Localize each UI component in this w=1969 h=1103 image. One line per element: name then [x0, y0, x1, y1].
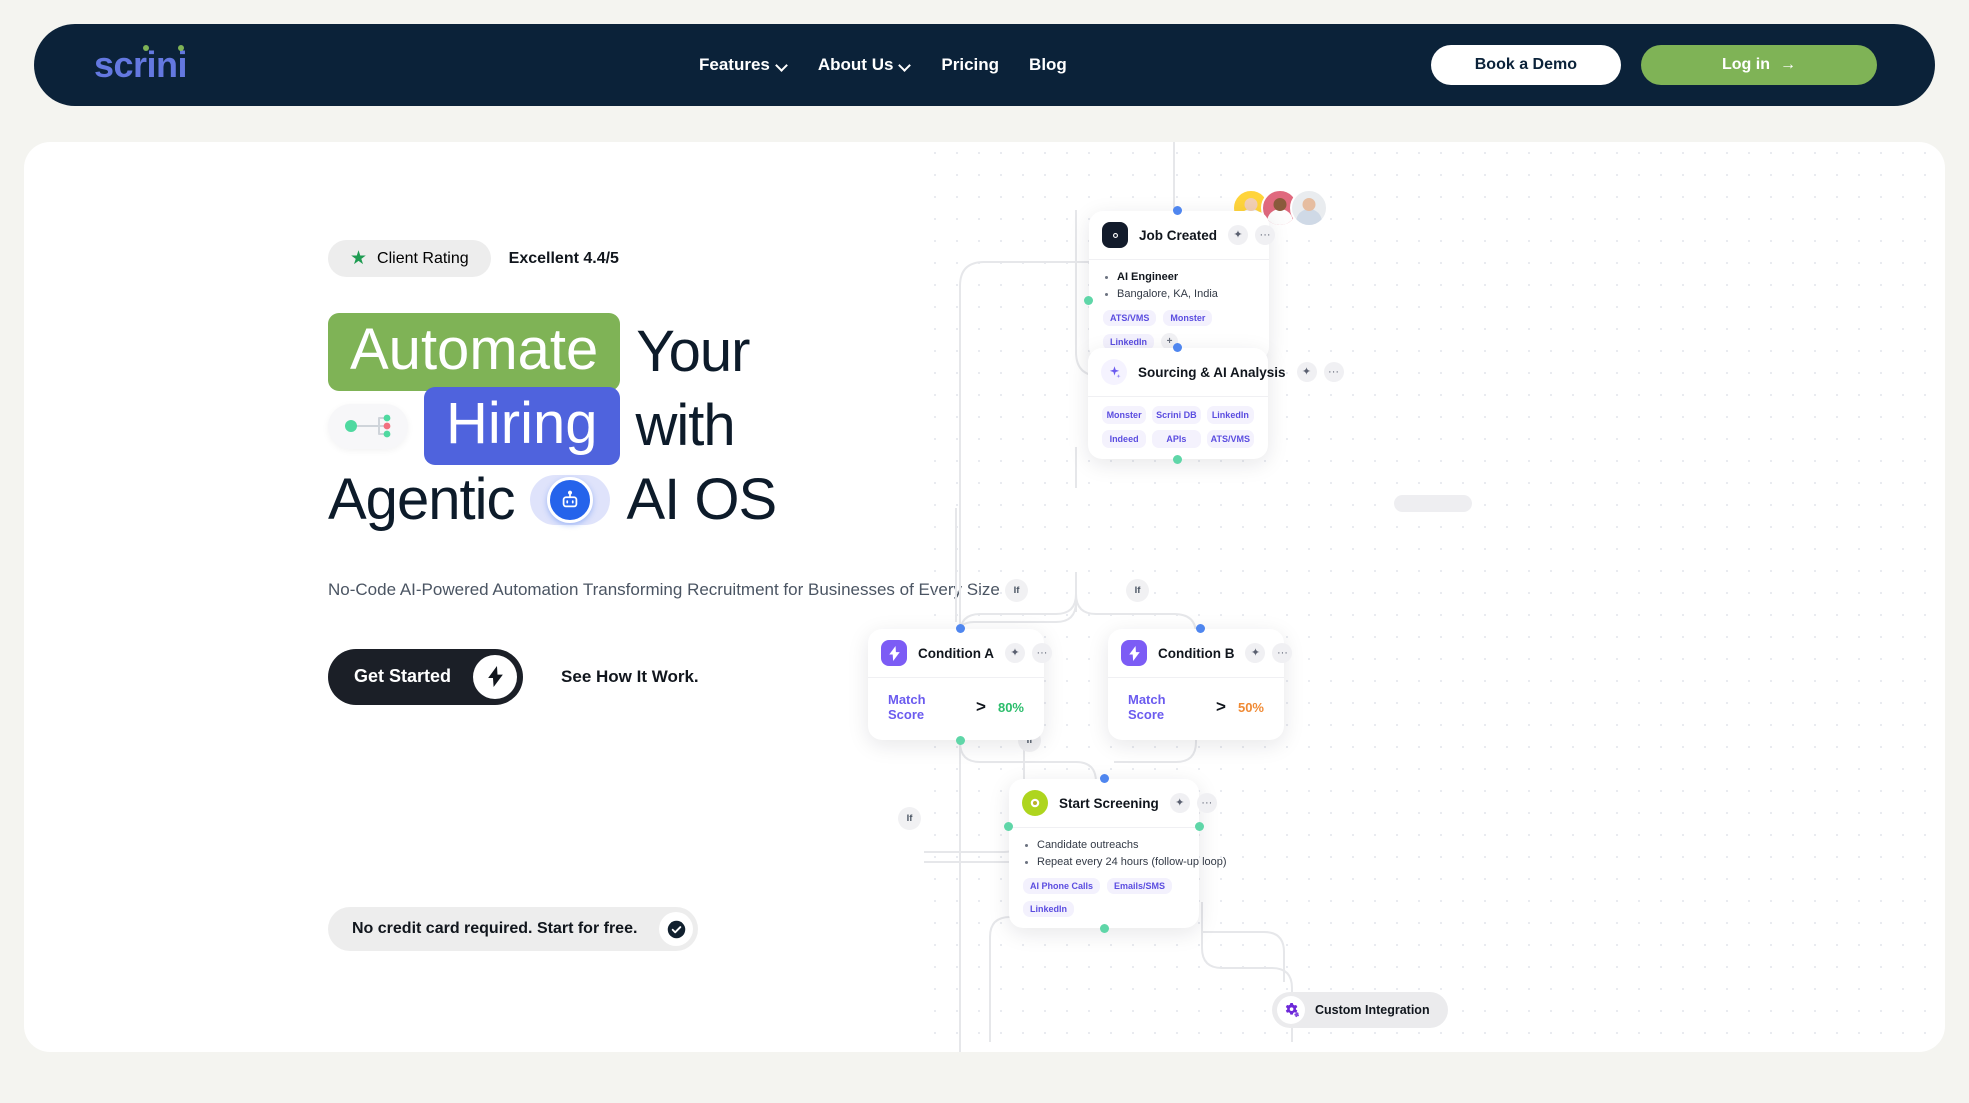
node-port-top: [1173, 206, 1182, 215]
list-item: AI Engineer: [1103, 269, 1255, 286]
arrow-right-icon: →: [1780, 56, 1796, 73]
tag[interactable]: Emails/SMS: [1107, 878, 1172, 894]
ellipsis-icon[interactable]: ···: [1032, 643, 1052, 663]
brand-logo-text: scrini: [94, 44, 187, 85]
star-icon: ★: [350, 249, 367, 268]
workflow-node-condition-b[interactable]: Condition B ✦ ··· Match Score > 50%: [1108, 629, 1284, 740]
double-gears-icon: [1277, 996, 1305, 1024]
node-port-top: [1173, 343, 1182, 352]
connector-if-badge: If: [1126, 579, 1149, 602]
node-port-right: [1195, 822, 1204, 831]
ellipsis-icon[interactable]: ···: [1255, 225, 1275, 245]
tag[interactable]: APIs: [1152, 430, 1201, 448]
see-how-it-works-link[interactable]: See How It Work.: [561, 667, 699, 687]
node-header-actions: ✦ ···: [1297, 362, 1344, 382]
ellipsis-icon[interactable]: ···: [1324, 362, 1344, 382]
node-header: Start Screening ✦ ···: [1009, 779, 1199, 828]
tag[interactable]: AI Phone Calls: [1023, 878, 1100, 894]
tag[interactable]: ATS/VMS: [1103, 310, 1156, 326]
client-rating-badge: ★ Client Rating: [328, 240, 491, 277]
hero-panel: ★ Client Rating Excellent 4.4/5 Automate…: [24, 142, 1945, 1052]
node-header: Job Created ✦ ···: [1089, 211, 1269, 260]
node-port-top: [1100, 774, 1109, 783]
custom-integration-label: Custom Integration: [1315, 1003, 1430, 1017]
magic-sparkle-icon[interactable]: ✦: [1245, 643, 1265, 663]
ellipsis-icon[interactable]: ···: [1197, 793, 1217, 813]
node-title: Condition B: [1158, 646, 1234, 661]
nav-actions: Book a Demo Log in→: [1431, 45, 1877, 85]
node-title: Condition A: [918, 646, 994, 661]
connector-if-badge: If: [898, 807, 921, 830]
magic-sparkle-icon[interactable]: ✦: [1297, 362, 1317, 382]
gear-icon: [1102, 222, 1128, 248]
nav-item-features-label: Features: [699, 55, 770, 75]
node-header-actions: ✦ ···: [1170, 793, 1217, 813]
condition-value: 50%: [1238, 700, 1264, 715]
nav-links: Features About Us Pricing Blog: [699, 55, 1067, 75]
book-demo-button[interactable]: Book a Demo: [1431, 45, 1621, 85]
client-rating-row: ★ Client Rating Excellent 4.4/5: [328, 240, 1028, 277]
workflow-node-start-screening[interactable]: Start Screening ✦ ··· Candidate outreach…: [1009, 779, 1199, 928]
tag[interactable]: Monster: [1163, 310, 1212, 326]
tag[interactable]: Scrini DB: [1152, 406, 1201, 424]
page-root: scrini Features About Us Pricing Blog Bo…: [0, 0, 1969, 1103]
node-header: Condition B ✦ ···: [1108, 629, 1284, 678]
node-bullet-list: Candidate outreachs Repeat every 24 hour…: [1023, 837, 1185, 871]
play-circle-icon: [1022, 790, 1048, 816]
sparkle-icon: [1101, 359, 1127, 385]
lightning-icon: [1121, 640, 1147, 666]
node-bullet-list: AI Engineer Bangalore, KA, India: [1103, 269, 1255, 303]
bolt-icon: [473, 655, 517, 699]
node-port-left: [1084, 296, 1093, 305]
node-port-top: [1196, 624, 1205, 633]
headline-word-with: with: [636, 397, 735, 455]
node-body: Monster Scrini DB LinkedIn Indeed APIs A…: [1088, 397, 1268, 459]
nav-item-blog-label: Blog: [1029, 55, 1067, 75]
node-body: Match Score > 50%: [1108, 678, 1284, 740]
condition-field-label: Match Score: [1128, 692, 1204, 722]
lightning-icon: [881, 640, 907, 666]
node-title: Sourcing & AI Analysis: [1138, 365, 1286, 380]
no-credit-card-badge: No credit card required. Start for free.: [328, 907, 698, 951]
ellipsis-icon[interactable]: ···: [1272, 643, 1292, 663]
client-rating-score: Excellent 4.4/5: [509, 250, 619, 268]
headline-highlight-hiring: Hiring: [424, 387, 620, 465]
top-navbar: scrini Features About Us Pricing Blog Bo…: [34, 24, 1935, 106]
magic-sparkle-icon[interactable]: ✦: [1228, 225, 1248, 245]
connector-if-badge: If: [1005, 579, 1028, 602]
login-button-label: Log in: [1722, 56, 1770, 73]
node-title: Job Created: [1139, 228, 1217, 243]
logo-dot-right: [178, 45, 184, 51]
chevron-down-icon: [900, 60, 911, 71]
tag[interactable]: Indeed: [1102, 430, 1146, 448]
node-body: Match Score > 80%: [868, 678, 1044, 740]
check-circle-icon: [659, 912, 693, 946]
no-credit-card-text: No credit card required. Start for free.: [352, 920, 637, 938]
headline-line-2: Hiring with: [328, 389, 1028, 463]
tag[interactable]: ATS/VMS: [1207, 430, 1254, 448]
robot-badge: [530, 475, 610, 525]
magic-sparkle-icon[interactable]: ✦: [1170, 793, 1190, 813]
node-port-top: [956, 624, 965, 633]
login-button[interactable]: Log in→: [1641, 45, 1877, 85]
flow-branch-icon: [328, 404, 408, 449]
nav-item-pricing-label: Pricing: [941, 55, 999, 75]
chevron-down-icon: [777, 60, 788, 71]
headline-word-your: Your: [636, 323, 749, 381]
node-port-left: [1004, 822, 1013, 831]
nav-item-about-us-label: About Us: [818, 55, 894, 75]
headline-word-agentic: Agentic: [328, 471, 514, 529]
condition-operator: >: [1216, 697, 1226, 717]
condition-field-label: Match Score: [888, 692, 964, 722]
tag[interactable]: LinkedIn: [1023, 901, 1074, 917]
hero-subtitle: No-Code AI-Powered Automation Transformi…: [328, 577, 1028, 603]
custom-integration-pill[interactable]: Custom Integration: [1272, 992, 1448, 1028]
nav-item-about-us[interactable]: About Us: [818, 55, 912, 75]
condition-operator: >: [976, 697, 986, 717]
magic-sparkle-icon[interactable]: ✦: [1005, 643, 1025, 663]
workflow-node-job-created[interactable]: Job Created ✦ ··· AI Engineer Bangalore,…: [1089, 211, 1269, 361]
list-item: Bangalore, KA, India: [1103, 286, 1255, 303]
node-header-actions: ✦ ···: [1245, 643, 1292, 663]
node-header: Condition A ✦ ···: [868, 629, 1044, 678]
workflow-canvas: Job Created ✦ ··· AI Engineer Bangalore,…: [924, 142, 1945, 1052]
client-rating-label: Client Rating: [377, 250, 469, 268]
condition-value: 80%: [998, 700, 1024, 715]
headline-line-3: Agentic AI OS: [328, 463, 1028, 537]
node-tag-row: AI Phone Calls Emails/SMS LinkedIn: [1023, 878, 1185, 917]
get-started-button[interactable]: Get Started: [328, 649, 523, 705]
workflow-node-sourcing-ai-analysis[interactable]: Sourcing & AI Analysis ✦ ··· Monster Scr…: [1088, 348, 1268, 459]
nav-item-pricing[interactable]: Pricing: [941, 55, 999, 75]
avatar: [1290, 189, 1328, 227]
node-title: Start Screening: [1059, 796, 1159, 811]
workflow-node-condition-a[interactable]: Condition A ✦ ··· Match Score > 80%: [868, 629, 1044, 740]
robot-icon: [547, 477, 593, 523]
nav-item-blog[interactable]: Blog: [1029, 55, 1067, 75]
headline-highlight-automate: Automate: [328, 313, 620, 391]
node-tag-grid: Monster Scrini DB LinkedIn Indeed APIs A…: [1102, 406, 1254, 448]
tag[interactable]: Monster: [1102, 406, 1146, 424]
headline-word-ai-os: AI OS: [626, 471, 776, 529]
hero-headline: Automate Your: [328, 315, 1028, 537]
logo-dot-left: [143, 45, 149, 51]
node-port-bottom: [1173, 455, 1182, 464]
node-body: Candidate outreachs Repeat every 24 hour…: [1009, 828, 1199, 928]
node-port-bottom: [956, 736, 965, 745]
node-header: Sourcing & AI Analysis ✦ ···: [1088, 348, 1268, 397]
node-header-actions: ✦ ···: [1228, 225, 1275, 245]
headline-line-1: Automate Your: [328, 315, 1028, 389]
list-item: Candidate outreachs: [1023, 837, 1185, 854]
brand-logo[interactable]: scrini: [94, 47, 187, 83]
tag[interactable]: LinkedIn: [1207, 406, 1254, 424]
nav-item-features[interactable]: Features: [699, 55, 788, 75]
list-item: Repeat every 24 hours (follow-up loop): [1023, 854, 1185, 871]
get-started-label: Get Started: [354, 666, 451, 687]
node-header-actions: ✦ ···: [1005, 643, 1052, 663]
